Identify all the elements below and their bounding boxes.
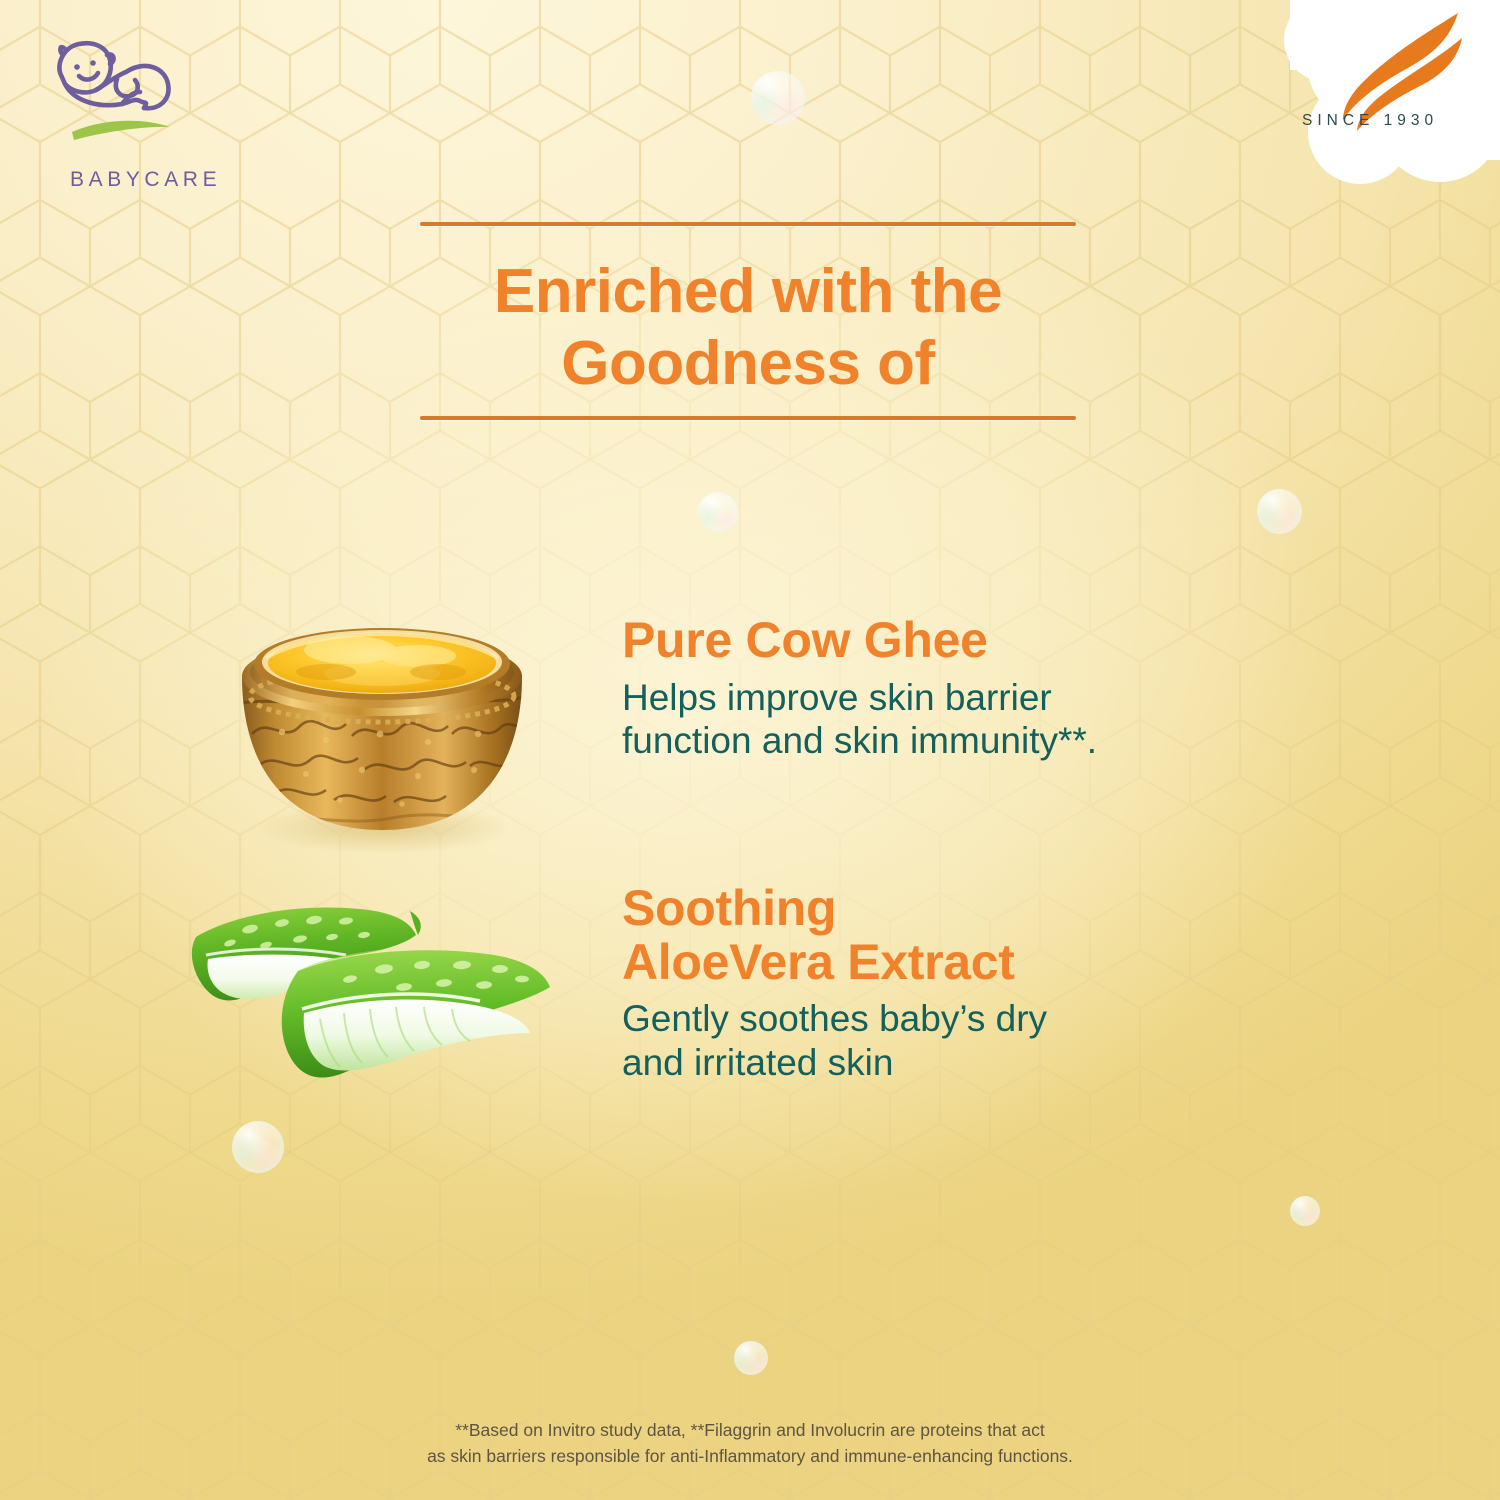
headline-line-2: Goodness of <box>561 329 934 398</box>
bubble-decoration <box>232 1121 284 1173</box>
ghee-bowl-icon <box>222 584 542 854</box>
poster-canvas: BABYCARE SINCE 1930 Enriched with the Go… <box>0 0 1500 1500</box>
benefit-description: Gently soothes baby’s dry and irritated … <box>622 997 1342 1084</box>
footnote: **Based on Invitro study data, **Filaggr… <box>0 1418 1500 1470</box>
benefit-description-line-1: Gently soothes baby’s dry <box>622 998 1047 1039</box>
headline-block: Enriched with the Goodness of <box>420 222 1076 420</box>
benefit-description-line-1: Helps improve skin barrier <box>622 677 1052 718</box>
benefit-description: Helps improve skin barrier function and … <box>622 676 1342 763</box>
benefit-soothing-aloevera-extract: Soothing AloeVera Extract Gently soothes… <box>622 882 1342 1084</box>
footnote-line-1: **Based on Invitro study data, **Filaggr… <box>0 1418 1500 1444</box>
baby-logo-icon <box>34 22 214 182</box>
benefit-description-line-2: function and skin immunity**. <box>622 720 1097 761</box>
brand-wordmark: BABYCARE <box>70 168 221 192</box>
since-label: SINCE 1930 <box>1302 112 1438 130</box>
bubble-decoration <box>1290 1196 1320 1226</box>
page-title: Enriched with the Goodness of <box>420 226 1076 416</box>
headline-rule-bottom <box>420 416 1076 420</box>
since-badge: SINCE 1930 <box>1230 0 1500 200</box>
benefit-title-line-2: AloeVera Extract <box>622 934 1015 990</box>
benefit-description-line-2: and irritated skin <box>622 1042 893 1083</box>
aloe-vera-slices-icon <box>178 895 568 1110</box>
bubble-decoration <box>698 492 738 532</box>
benefit-title: Pure Cow Ghee <box>622 614 1342 668</box>
benefit-title: Soothing AloeVera Extract <box>622 882 1342 989</box>
headline-line-1: Enriched with the <box>494 257 1002 326</box>
bubble-decoration <box>1257 489 1302 534</box>
bubble-decoration <box>734 1341 768 1375</box>
aloe-slice-front <box>282 949 550 1078</box>
benefit-pure-cow-ghee: Pure Cow Ghee Helps improve skin barrier… <box>622 614 1342 763</box>
benefit-title-line-1: Soothing <box>622 880 836 936</box>
brand-logo[interactable]: BABYCARE <box>34 22 214 182</box>
bubble-decoration <box>751 71 805 125</box>
leaf-swoosh-icon <box>72 121 170 140</box>
footnote-line-2: as skin barriers responsible for anti-In… <box>0 1444 1500 1470</box>
